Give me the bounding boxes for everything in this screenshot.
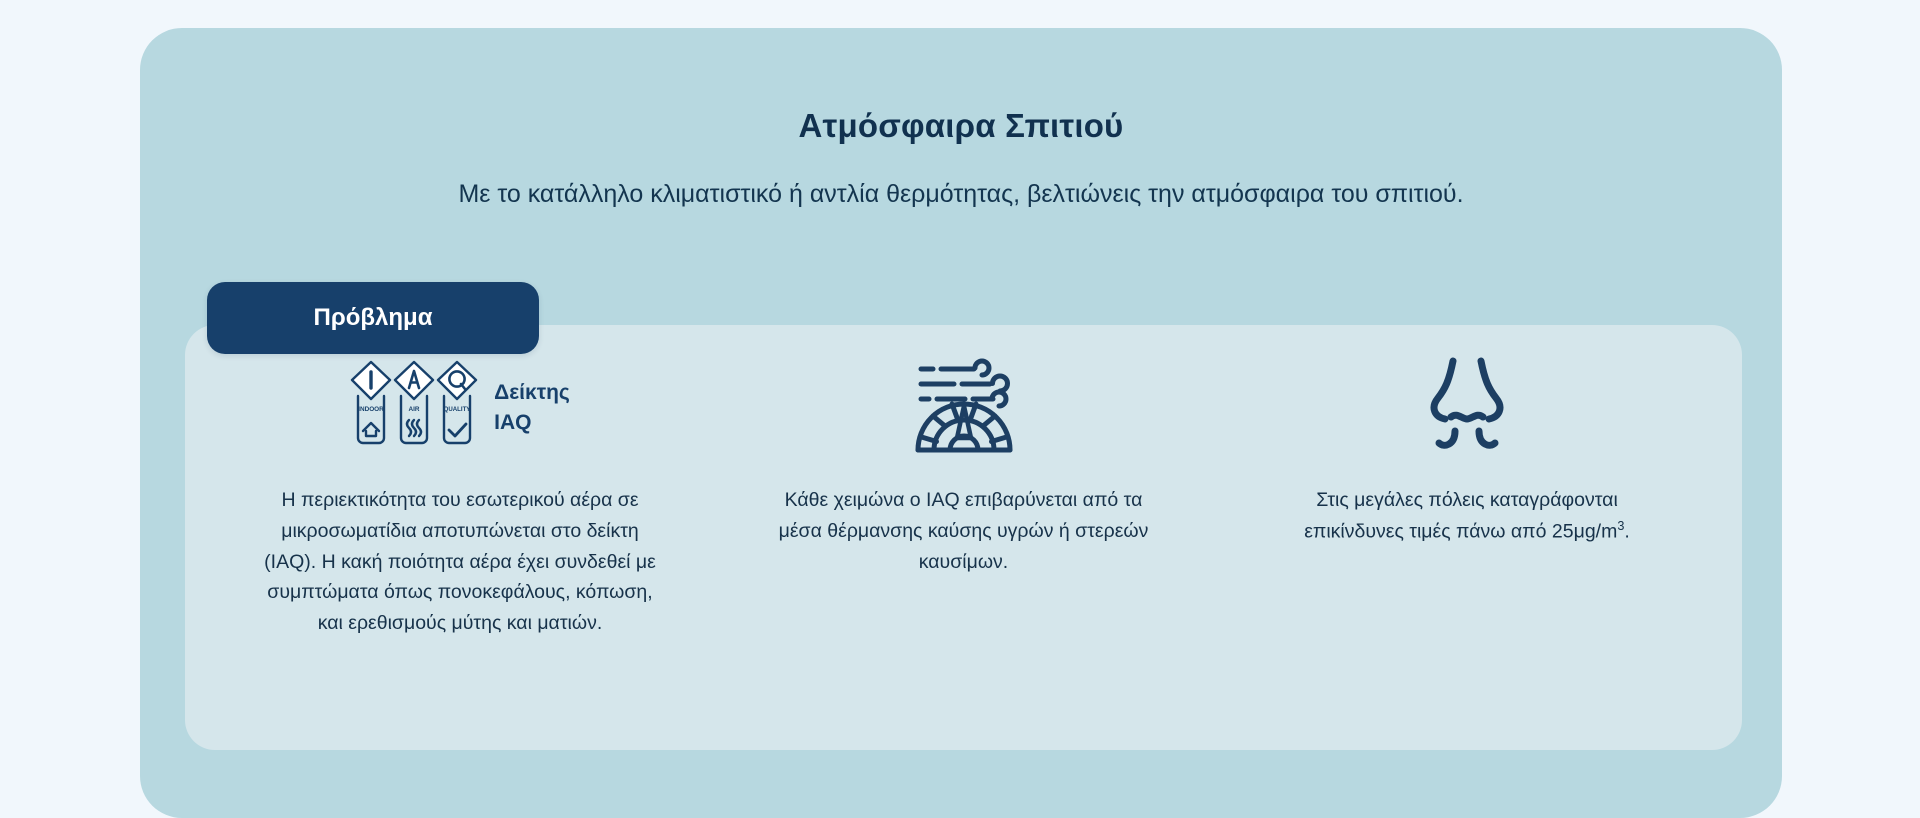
problem-text-iaq: Η περιεκτικότητα του εσωτερικού αέρα σε … [260, 485, 660, 639]
page-title: Ατμόσφαιρα Σπιτιού [140, 106, 1782, 146]
iaq-label-line-2: IAQ [494, 411, 531, 434]
iaq-icon-row: INDOOR AIR [350, 347, 570, 469]
screenshot-root: Ατμόσφαιρα Σπιτιού Με το κατάλληλο κλιμα… [0, 0, 1920, 782]
problem-column-heating: Κάθε χειμώνα ο IAQ επιβαρύνεται από τα μ… [729, 325, 1199, 577]
iaq-index-icon: INDOOR AIR [350, 358, 478, 459]
wind-gauge-icon-row [908, 347, 1020, 469]
tab-problem-label: Πρόβλημα [314, 304, 433, 332]
nose-icon-row [1424, 347, 1510, 469]
page-subtitle: Με το κατάλληλο κλιματιστικό ή αντλία θε… [200, 178, 1722, 212]
nose-icon [1424, 355, 1510, 462]
problem-text-cities-main: Στις μεγάλες πόλεις καταγράφονται επικίν… [1304, 489, 1618, 542]
problem-column-cities: Στις μεγάλες πόλεις καταγράφονται επικίν… [1232, 325, 1702, 547]
problem-text-cities-period: . [1624, 520, 1629, 542]
atmosphere-section-card: Ατμόσφαιρα Σπιτιού Με το κατάλληλο κλιμα… [140, 28, 1782, 818]
tab-problem[interactable]: Πρόβλημα [207, 282, 539, 354]
svg-text:AIR: AIR [409, 406, 420, 413]
iaq-index-label: Δείκτης IAQ [494, 378, 570, 438]
svg-text:INDOOR: INDOOR [358, 406, 384, 413]
problem-columns: INDOOR AIR [185, 325, 1742, 750]
problem-text-heating: Κάθε χειμώνα ο IAQ επιβαρύνεται από τα μ… [779, 485, 1149, 577]
problem-panel: INDOOR AIR [185, 325, 1742, 750]
problem-text-cities: Στις μεγάλες πόλεις καταγράφονται επικίν… [1302, 485, 1632, 547]
iaq-label-line-1: Δείκτης [494, 381, 570, 404]
svg-text:QUALITY: QUALITY [444, 406, 471, 413]
problem-column-iaq: INDOOR AIR [225, 325, 695, 639]
wind-gauge-icon [908, 354, 1020, 463]
